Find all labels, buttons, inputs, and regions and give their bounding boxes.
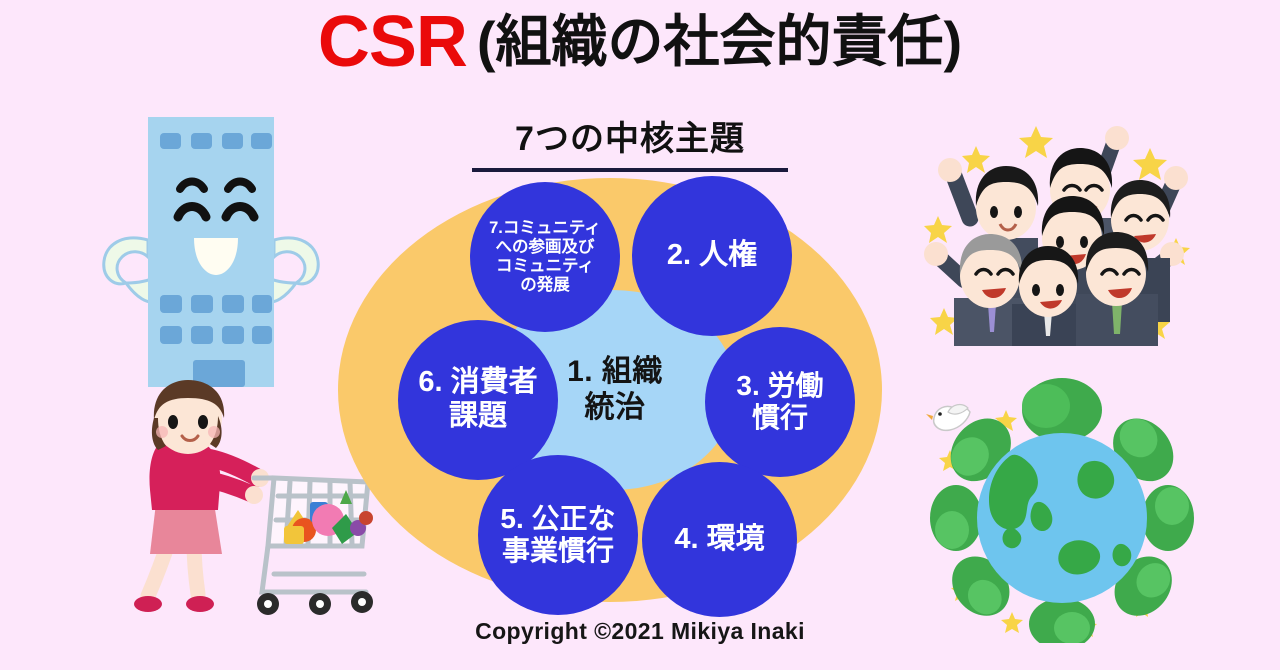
person-front-row [954, 232, 1158, 346]
node-label: 7.コミュニティ への参画及び コミュニティ の発展 [489, 219, 601, 296]
node-center-label: 1. 組織 統治 [567, 354, 663, 426]
node-organizational-governance[interactable]: 1. 組織 統治 [530, 330, 700, 450]
dove-icon [926, 405, 970, 431]
node-label: 4. 環境 [674, 523, 764, 557]
title-subtitle: (組織の社会的責任) [477, 10, 962, 73]
node-label: 2. 人権 [667, 239, 757, 273]
shopper-head [152, 380, 224, 454]
node-environment[interactable]: 4. 環境 [642, 462, 797, 617]
copyright-notice: Copyright ©2021 Mikiya Inaki [0, 618, 1280, 645]
shopper-skirt [150, 503, 222, 554]
node-community-involvement[interactable]: 7.コミュニティ への参画及び コミュニティ の発展 [470, 182, 620, 332]
diagram-heading: 7つの中核主題 [470, 120, 790, 159]
building-character-illustration [96, 105, 326, 390]
title-main: CSR [318, 2, 467, 82]
node-human-rights[interactable]: 2. 人権 [632, 176, 792, 336]
csr-core-subjects-diagram: 7.コミュニティ への参画及び コミュニティ の発展 2. 人権 6. 消費者 … [330, 172, 890, 612]
page-title: CSR(組織の社会的責任) [0, 6, 1280, 78]
node-label: 6. 消費者 課題 [418, 366, 537, 433]
node-label: 3. 労働 慣行 [736, 370, 823, 435]
slide-canvas: CSR(組織の社会的責任) [0, 0, 1280, 670]
node-label: 5. 公正な 事業慣行 [500, 503, 615, 568]
cheering-people-illustration [918, 108, 1208, 346]
earth-with-trees-illustration [918, 368, 1208, 643]
node-fair-operating-practices[interactable]: 5. 公正な 事業慣行 [478, 455, 638, 615]
node-labour-practices[interactable]: 3. 労働 慣行 [705, 327, 855, 477]
